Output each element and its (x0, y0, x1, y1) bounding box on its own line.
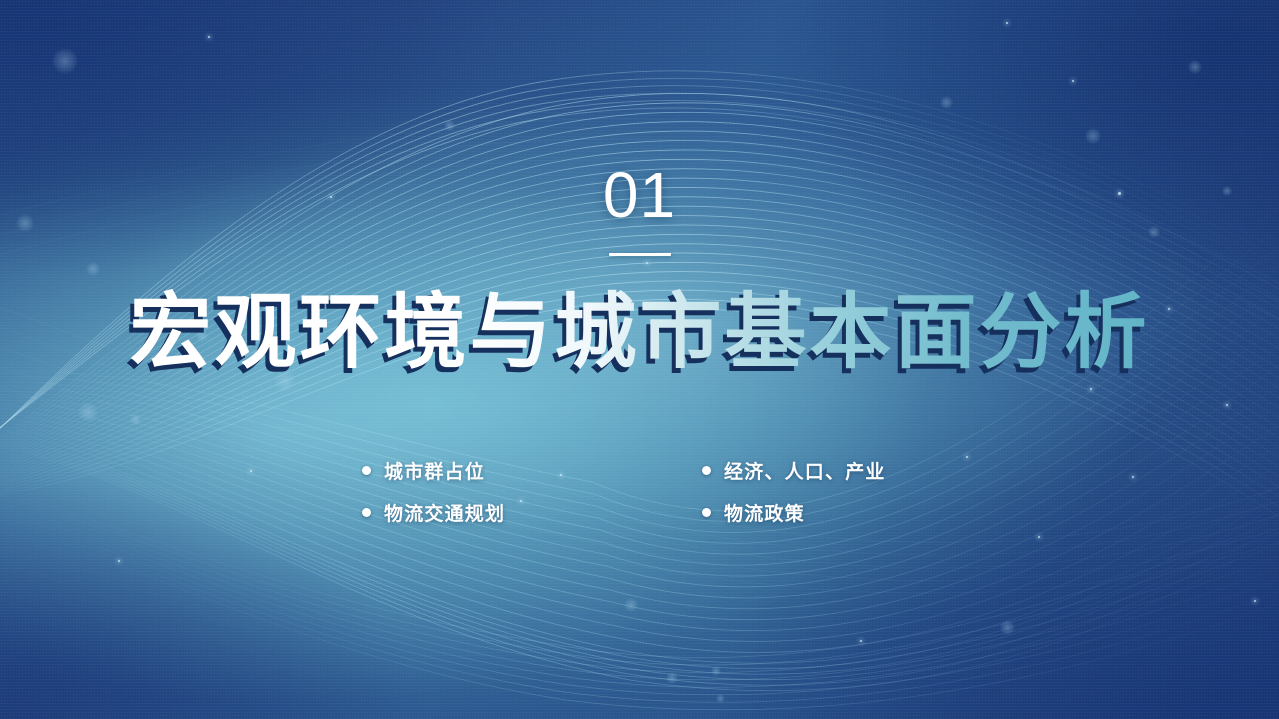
slide-content: 01 宏观环境与城市基本面分析 宏观环境与城市基本面分析 城市群占位 经济、人口… (0, 0, 1279, 719)
list-item-label: 经济、人口、产业 (724, 457, 886, 484)
list-item[interactable]: 物流政策 (702, 499, 962, 526)
list-item[interactable]: 经济、人口、产业 (702, 457, 962, 484)
page-title: 宏观环境与城市基本面分析 宏观环境与城市基本面分析 (0, 283, 1279, 383)
page-title-text: 宏观环境与城市基本面分析 (129, 285, 1149, 380)
list-item-label: 物流政策 (724, 499, 805, 526)
presentation-slide: 01 宏观环境与城市基本面分析 宏观环境与城市基本面分析 城市群占位 经济、人口… (0, 0, 1279, 719)
bullet-dot-icon (362, 508, 371, 517)
list-item[interactable]: 物流交通规划 (362, 499, 702, 526)
bullet-dot-icon (702, 508, 711, 517)
bullet-list: 城市群占位 经济、人口、产业 物流交通规划 物流政策 (362, 449, 962, 533)
section-number: 01 (0, 163, 1279, 227)
list-item[interactable]: 城市群占位 (362, 457, 702, 484)
bullet-dot-icon (702, 466, 711, 475)
list-item-label: 城市群占位 (384, 457, 485, 484)
bullet-dot-icon (362, 466, 371, 475)
list-item-label: 物流交通规划 (384, 499, 505, 526)
title-divider (609, 253, 671, 256)
